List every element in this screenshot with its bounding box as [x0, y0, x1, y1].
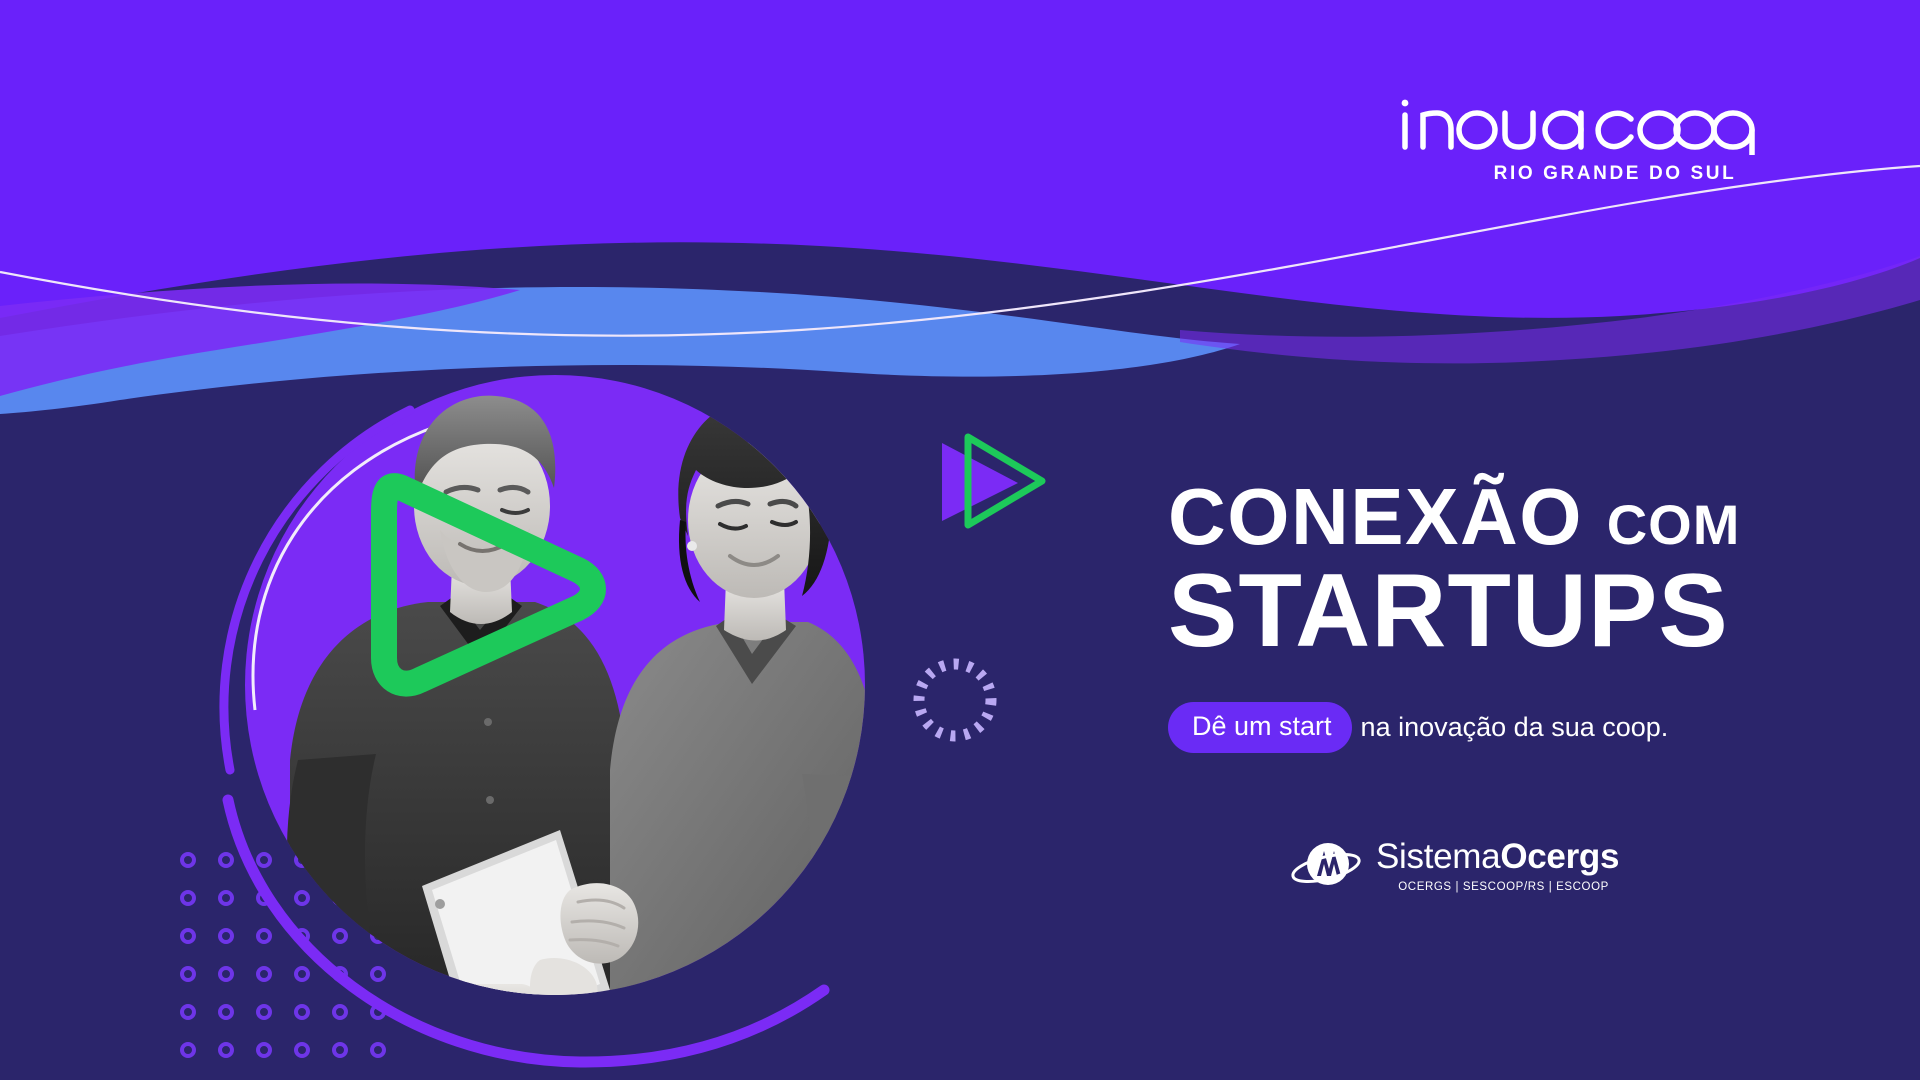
- ocergs-subtitle: OCERGS | SESCOOP/RS | ESCOOP: [1376, 881, 1619, 893]
- headline-line-1: CONEXÃO COM: [1168, 478, 1808, 556]
- headline-main: CONEXÃO: [1168, 472, 1583, 561]
- headline-small: COM: [1607, 493, 1741, 556]
- dashed-ring-decoration: [905, 650, 1005, 750]
- tagline-rest: na inovação da sua coop.: [1352, 712, 1669, 743]
- play-triangle-icon[interactable]: [330, 430, 630, 730]
- purple-filled-triangle: [942, 443, 1018, 521]
- copy-block: CONEXÃO COM STARTUPS Dê um start na inov…: [1168, 478, 1808, 753]
- inovacoop-logo[interactable]: RIO GRANDE DO SUL: [1395, 95, 1765, 185]
- headline-line-2: STARTUPS: [1168, 558, 1808, 664]
- tagline-pill[interactable]: Dê um start: [1168, 702, 1352, 753]
- ocergs-planet-icon: [1290, 838, 1364, 894]
- photo-collage: [140, 330, 900, 1080]
- inovacoop-wordmark-icon: [1395, 95, 1765, 155]
- promotional-banner: RIO GRANDE DO SUL CONEXÃO COM STARTUPS D…: [0, 0, 1920, 1080]
- tagline: Dê um start na inovação da sua coop.: [1168, 702, 1808, 753]
- ocergs-wordmark: SistemaOcergs: [1376, 839, 1619, 874]
- ocergs-word-bold: Ocergs: [1500, 837, 1619, 876]
- triangle-pair-decoration: [930, 425, 1050, 535]
- sistema-ocergs-logo[interactable]: SistemaOcergs OCERGS | SESCOOP/RS | ESCO…: [1290, 838, 1619, 894]
- inovacoop-subtitle: RIO GRANDE DO SUL: [1395, 163, 1765, 185]
- ocergs-word-light: Sistema: [1376, 837, 1500, 876]
